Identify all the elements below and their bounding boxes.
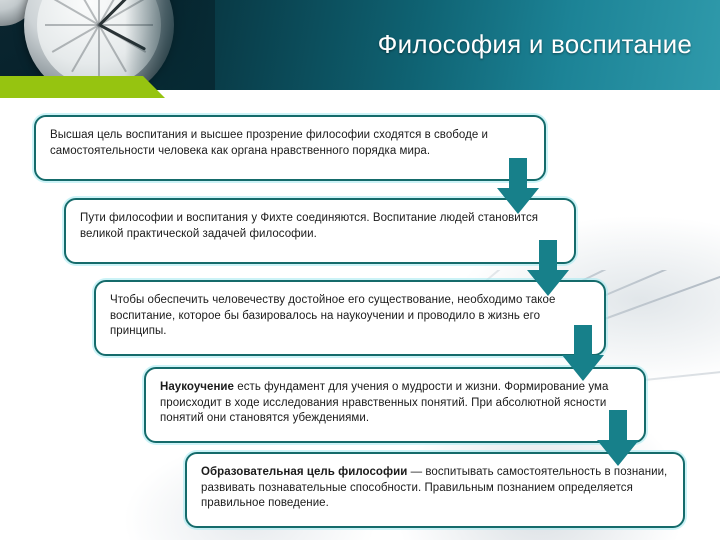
content-box-4-paragraph: Наукоучение есть фундамент для учения о … <box>160 380 630 427</box>
content-box-1-text: Высшая цель воспитания и высшее прозрени… <box>50 128 530 159</box>
content-box-5-paragraph: Образовательная цель философии — воспиты… <box>201 465 669 512</box>
down-arrow-icon-4 <box>597 410 639 466</box>
down-arrow-icon-1 <box>497 158 539 214</box>
content-box-2-text: Пути философии и воспитания у Фихте соед… <box>80 211 560 242</box>
content-box-1[interactable]: Высшая цель воспитания и высшее прозрени… <box>34 115 546 181</box>
down-arrow-icon-3 <box>562 325 604 381</box>
down-arrow-icon-2 <box>527 240 569 296</box>
green-accent-bar <box>0 76 165 98</box>
content-box-4-lead: Наукоучение <box>160 381 234 393</box>
content-box-3-text: Чтобы обеспечить человечеству достойное … <box>110 293 590 340</box>
content-box-5-lead: Образовательная цель философии <box>201 466 407 478</box>
presentation-slide: Философия и воспитание Высшая цель воспи… <box>0 0 720 540</box>
page-title: Философия и воспитание <box>378 29 692 60</box>
